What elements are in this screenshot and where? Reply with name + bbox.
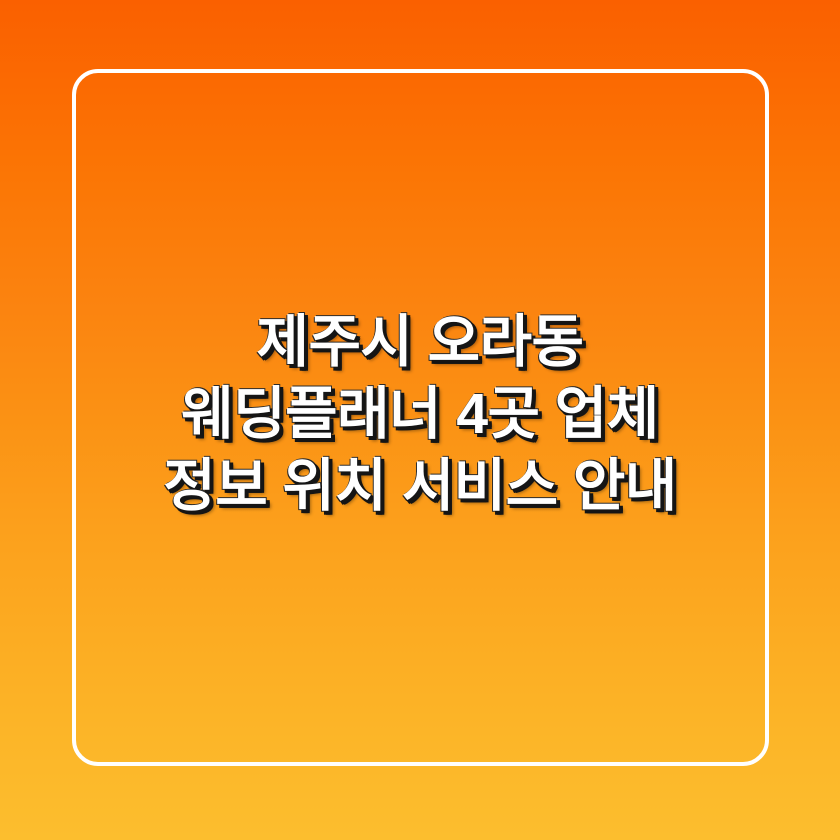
title-line-2: 웨딩플래너 4곳 업체	[0, 378, 840, 450]
title-line-1: 제주시 오라동	[0, 306, 840, 378]
title-line-3: 정보 위치 서비스 안내	[0, 450, 840, 522]
poster-canvas: 제주시 오라동 웨딩플래너 4곳 업체 정보 위치 서비스 안내	[0, 0, 840, 840]
poster-title-block: 제주시 오라동 웨딩플래너 4곳 업체 정보 위치 서비스 안내	[0, 0, 840, 840]
